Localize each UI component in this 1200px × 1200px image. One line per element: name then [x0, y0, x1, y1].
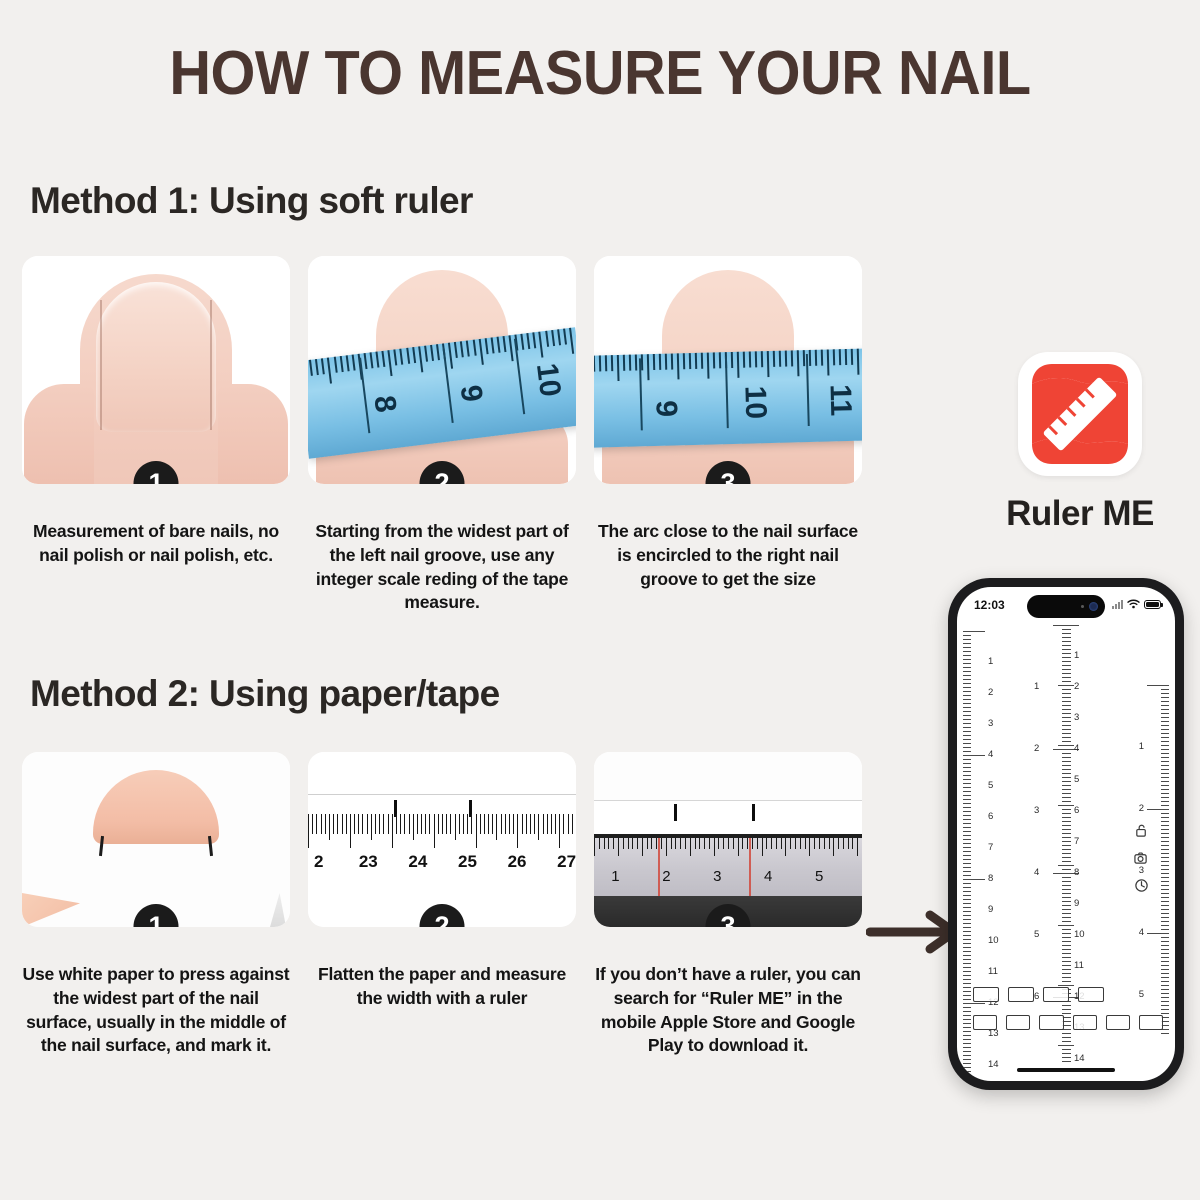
tape-number: 10 — [737, 385, 772, 419]
ruler-number: 8 — [1074, 867, 1079, 878]
ruler-number: 1 — [988, 656, 993, 667]
measure-widget[interactable] — [1073, 1015, 1097, 1030]
ruler-number: 10 — [1074, 929, 1085, 940]
ruler-number: 24 — [408, 852, 427, 872]
measure-widget[interactable] — [1078, 987, 1104, 1002]
unlock-icon — [1134, 823, 1149, 838]
step-card: 1 Measurement of bare nails, no nail pol… — [22, 256, 290, 568]
ruler-number: 6 — [988, 811, 993, 822]
step-caption: Use white paper to press against the wid… — [22, 963, 290, 1058]
measure-widget[interactable] — [1043, 987, 1069, 1002]
step-card: 22324252627 2 Flatten the paper and meas… — [308, 752, 576, 1011]
step-photo-bare-nail: 1 — [22, 256, 290, 484]
measure-widget-row[interactable] — [973, 987, 1163, 1002]
measure-widget[interactable] — [1039, 1015, 1063, 1030]
tape-number: 11 — [823, 384, 858, 417]
status-bar-indicators — [1112, 599, 1161, 609]
step-photo-paper-ruler: 22324252627 2 — [308, 752, 576, 927]
step-card: 1 Use white paper to press against the w… — [22, 752, 290, 1058]
paper-ruler-art: 22324252627 — [308, 752, 576, 927]
timer-icon — [1134, 878, 1149, 893]
phone-mockup: 12:03 1234567891011121314 12345678910111… — [948, 578, 1184, 1090]
step-card: 8 9 10 2 Starting from the widest part o… — [308, 256, 576, 615]
tape-measure-art: 8 9 10 — [308, 256, 576, 484]
ruler-number: 9 — [988, 904, 993, 915]
tape-measure-art: 9 10 11 — [594, 256, 862, 484]
ruler-number: 4 — [988, 749, 993, 760]
measure-widget[interactable] — [1008, 987, 1034, 1002]
nail-closeup-art — [22, 256, 290, 484]
ruler-number: 9 — [1074, 898, 1079, 909]
step-photo-plastic-ruler: 12345 3 — [594, 752, 862, 927]
ruler-number: 8 — [988, 873, 993, 884]
status-bar-time: 12:03 — [974, 598, 1005, 612]
step-caption: The arc close to the nail surface is enc… — [594, 520, 862, 591]
tape-number: 8 — [366, 394, 402, 415]
ruler-number: 7 — [988, 842, 993, 853]
measure-widget[interactable] — [1106, 1015, 1130, 1030]
ruler-number: 6 — [1074, 805, 1079, 816]
measure-widget[interactable] — [973, 987, 999, 1002]
step-card: 12345 3 If you don’t have a ruler, you c… — [594, 752, 862, 1058]
ruler-number: 3 — [1034, 805, 1039, 816]
dynamic-island — [1027, 595, 1105, 618]
ruler-app-icon[interactable] — [1018, 352, 1142, 476]
signal-icon — [1112, 600, 1123, 609]
ruler-number: 11 — [1074, 960, 1084, 971]
step-photo-tape-on-thumb: 8 9 10 2 — [308, 256, 576, 484]
app-promo-block: Ruler ME — [960, 352, 1200, 534]
method-1-heading: Method 1: Using soft ruler — [30, 180, 473, 222]
phone-tool-icons — [1133, 823, 1149, 893]
ruler-number: 26 — [508, 852, 527, 872]
tape-number: 9 — [452, 383, 488, 404]
ruler-number: 5 — [988, 780, 993, 791]
ruler-number: 2 — [1139, 803, 1144, 814]
ruler-number: 3 — [713, 868, 721, 885]
tape-number: 10 — [529, 361, 567, 398]
front-camera-icon — [1089, 602, 1098, 611]
phone-screen: 12:03 1234567891011121314 12345678910111… — [957, 587, 1175, 1081]
paper-nail-mark-art — [22, 752, 290, 927]
ruler-number: 11 — [988, 966, 998, 977]
ruler-number: 2 — [1034, 743, 1039, 754]
ruler-number: 5 — [1034, 929, 1039, 940]
measure-widget-row[interactable] — [973, 1015, 1163, 1030]
step-photo-paper-press: 1 — [22, 752, 290, 927]
plastic-ruler-art: 12345 — [594, 752, 862, 927]
ruler-number: 1 — [1034, 681, 1039, 692]
ruler-number: 3 — [1074, 712, 1079, 723]
step-caption: If you don’t have a ruler, you can searc… — [594, 963, 862, 1058]
step-card: 9 10 11 3 The arc close to the nail surf… — [594, 256, 862, 591]
step-caption: Flatten the paper and measure the width … — [308, 963, 576, 1011]
tape-number: 9 — [648, 400, 682, 418]
ruler-number: 10 — [988, 935, 999, 946]
ruler-number: 4 — [764, 868, 772, 885]
ruler-number: 1 — [1074, 650, 1079, 661]
ruler-number: 1 — [1139, 741, 1144, 752]
sensor-dot — [1081, 605, 1084, 608]
ruler-number: 2 — [662, 868, 670, 885]
ruler-number: 4 — [1139, 927, 1144, 938]
step-caption: Measurement of bare nails, no nail polis… — [22, 520, 290, 568]
battery-icon — [1144, 600, 1161, 609]
ruler-number: 2 — [1074, 681, 1079, 692]
ruler-number: 4 — [1034, 867, 1039, 878]
method-2-heading: Method 2: Using paper/tape — [30, 673, 500, 715]
ruler-number: 23 — [359, 852, 378, 872]
ruler-number: 1 — [611, 868, 619, 885]
camera-icon — [1133, 851, 1149, 865]
measure-widget[interactable] — [973, 1015, 997, 1030]
step-caption: Starting from the widest part of the lef… — [308, 520, 576, 615]
page-title: HOW TO MEASURE YOUR NAIL — [42, 38, 1158, 109]
ruler-number: 2 — [988, 687, 993, 698]
ruler-number: 5 — [815, 868, 823, 885]
ruler-number: 14 — [1074, 1053, 1085, 1064]
app-name-label: Ruler ME — [960, 494, 1200, 534]
step-photo-tape-wrapped: 9 10 11 3 — [594, 256, 862, 484]
ruler-number: 3 — [988, 718, 993, 729]
ruler-number: 14 — [988, 1059, 999, 1070]
ruler-number: 5 — [1074, 774, 1079, 785]
home-indicator — [1017, 1068, 1115, 1072]
ruler-number: 4 — [1074, 743, 1079, 754]
ruler-number: 27 — [557, 852, 576, 872]
measure-widget[interactable] — [1006, 1015, 1030, 1030]
ruler-number: 7 — [1074, 836, 1079, 847]
ruler-number: 25 — [458, 852, 477, 872]
ruler-number: 2 — [314, 852, 323, 872]
wifi-icon — [1127, 599, 1140, 609]
measure-widget[interactable] — [1139, 1015, 1163, 1030]
